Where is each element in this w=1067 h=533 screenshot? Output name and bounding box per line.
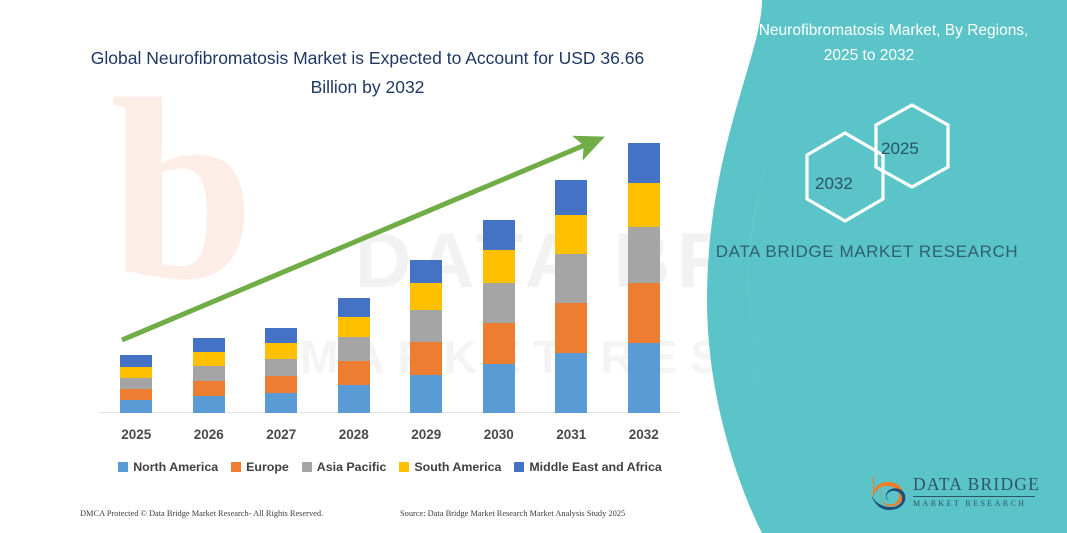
panel-title: Global Neurofibromatosis Market, By Regi… xyxy=(695,18,1043,68)
infographic-root: b DATA BRIDGE MARKET RESEARCH Global Neu… xyxy=(0,0,1067,533)
logo-mark-icon xyxy=(865,470,911,516)
growth-arrow-icon xyxy=(100,120,680,413)
legend-swatch-icon xyxy=(399,462,409,472)
x-axis-tick-label: 2029 xyxy=(390,427,463,442)
footer-source: Source: Data Bridge Market Research Mark… xyxy=(400,509,625,518)
legend-label: Europe xyxy=(246,460,289,474)
x-axis-tick-label: 2030 xyxy=(463,427,536,442)
x-axis-labels: 20252026202720282029203020312032 xyxy=(100,427,680,442)
logo-text: DATA BRIDGE MARKET RESEARCH xyxy=(913,474,1040,508)
x-axis-tick-label: 2028 xyxy=(318,427,391,442)
legend-swatch-icon xyxy=(118,462,128,472)
logo-divider xyxy=(913,496,1035,497)
hexagon-2032-label: 2032 xyxy=(815,174,853,194)
logo-title: DATA BRIDGE xyxy=(913,474,1040,495)
data-bridge-logo: DATA BRIDGE MARKET RESEARCH xyxy=(865,470,1055,518)
legend-item[interactable]: Asia Pacific xyxy=(302,460,387,474)
hexagon-group: 2025 2032 xyxy=(667,95,1067,225)
legend-swatch-icon xyxy=(231,462,241,472)
x-axis-tick-label: 2031 xyxy=(535,427,608,442)
legend-item[interactable]: North America xyxy=(118,460,218,474)
stacked-bar-chart: 20252026202720282029203020312032 North A… xyxy=(0,0,733,533)
legend-label: South America xyxy=(414,460,501,474)
legend-swatch-icon xyxy=(514,462,524,472)
legend-item[interactable]: South America xyxy=(399,460,501,474)
legend-label: Middle East and Africa xyxy=(529,460,661,474)
legend-swatch-icon xyxy=(302,462,312,472)
hexagon-2025-label: 2025 xyxy=(881,139,919,159)
x-axis-tick-label: 2027 xyxy=(245,427,318,442)
hexagon-shapes xyxy=(667,95,1067,225)
x-axis-tick-label: 2026 xyxy=(173,427,246,442)
legend-label: Asia Pacific xyxy=(317,460,387,474)
legend-item[interactable]: Middle East and Africa xyxy=(514,460,661,474)
panel-brand: DATA BRIDGE MARKET RESEARCH xyxy=(687,238,1047,265)
logo-subtitle: MARKET RESEARCH xyxy=(913,499,1040,508)
footer-copyright: DMCA Protected © Data Bridge Market Rese… xyxy=(80,509,323,518)
chart-legend: North AmericaEuropeAsia PacificSouth Ame… xyxy=(100,460,680,474)
x-axis-tick-label: 2025 xyxy=(100,427,173,442)
footer: DMCA Protected © Data Bridge Market Rese… xyxy=(0,509,733,529)
side-panel: Global Neurofibromatosis Market, By Regi… xyxy=(667,0,1067,533)
legend-item[interactable]: Europe xyxy=(231,460,289,474)
legend-label: North America xyxy=(133,460,218,474)
panel-shape xyxy=(667,0,1067,533)
